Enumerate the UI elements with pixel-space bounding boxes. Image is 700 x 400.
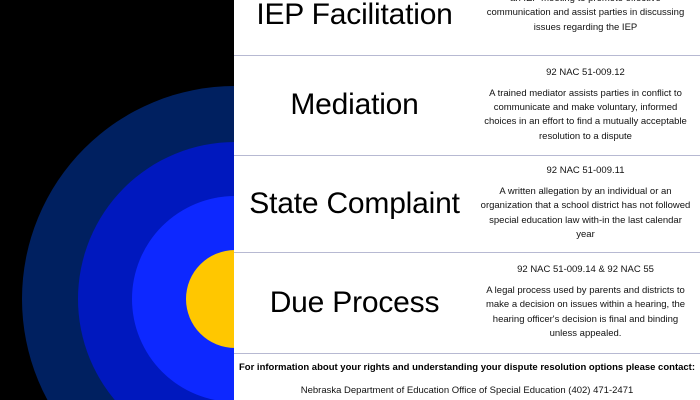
description-text-state-complaint: A written allegation by an individual or… bbox=[479, 185, 692, 243]
contact-details: Nebraska Department of Education Office … bbox=[234, 384, 700, 398]
term-label-state-complaint: State Complaint bbox=[234, 188, 475, 220]
contact-prompt: For information about your rights and un… bbox=[234, 361, 700, 375]
description-cell-state-complaint: 92 NAC 51-009.11 A written allegation by… bbox=[475, 165, 700, 243]
regulation-code-state-complaint: 92 NAC 51-009.11 bbox=[479, 165, 692, 178]
description-text-mediation: A trained mediator assists parties in co… bbox=[479, 87, 692, 145]
table-row: State Complaint 92 NAC 51-009.11 A writt… bbox=[234, 156, 700, 253]
regulation-code-mediation: 92 NAC 51-009.12 bbox=[479, 67, 692, 80]
description-cell-due-process: 92 NAC 51-009.14 & 92 NAC 55 A legal pro… bbox=[475, 264, 700, 342]
description-cell-iep-facilitation: an IEP meeting to promote effective comm… bbox=[475, 0, 700, 35]
description-cell-mediation: 92 NAC 51-009.12 A trained mediator assi… bbox=[475, 67, 700, 145]
term-label-mediation: Mediation bbox=[234, 89, 475, 121]
term-label-iep-facilitation: IEP Facilitation bbox=[234, 0, 475, 32]
contact-footer: For information about your rights and un… bbox=[234, 354, 700, 400]
slide-canvas: IEP Facilitation an IEP meeting to promo… bbox=[0, 0, 700, 400]
table-row: Mediation 92 NAC 51-009.12 A trained med… bbox=[234, 56, 700, 156]
description-text-due-process: A legal process used by parents and dist… bbox=[479, 284, 692, 342]
description-text-iep-facilitation: an IEP meeting to promote effective comm… bbox=[479, 0, 692, 35]
table-row: Due Process 92 NAC 51-009.14 & 92 NAC 55… bbox=[234, 253, 700, 354]
term-label-due-process: Due Process bbox=[234, 287, 475, 319]
regulation-code-due-process: 92 NAC 51-009.14 & 92 NAC 55 bbox=[479, 264, 692, 277]
dispute-resolution-table: IEP Facilitation an IEP meeting to promo… bbox=[234, 0, 700, 400]
table-row: IEP Facilitation an IEP meeting to promo… bbox=[234, 0, 700, 56]
